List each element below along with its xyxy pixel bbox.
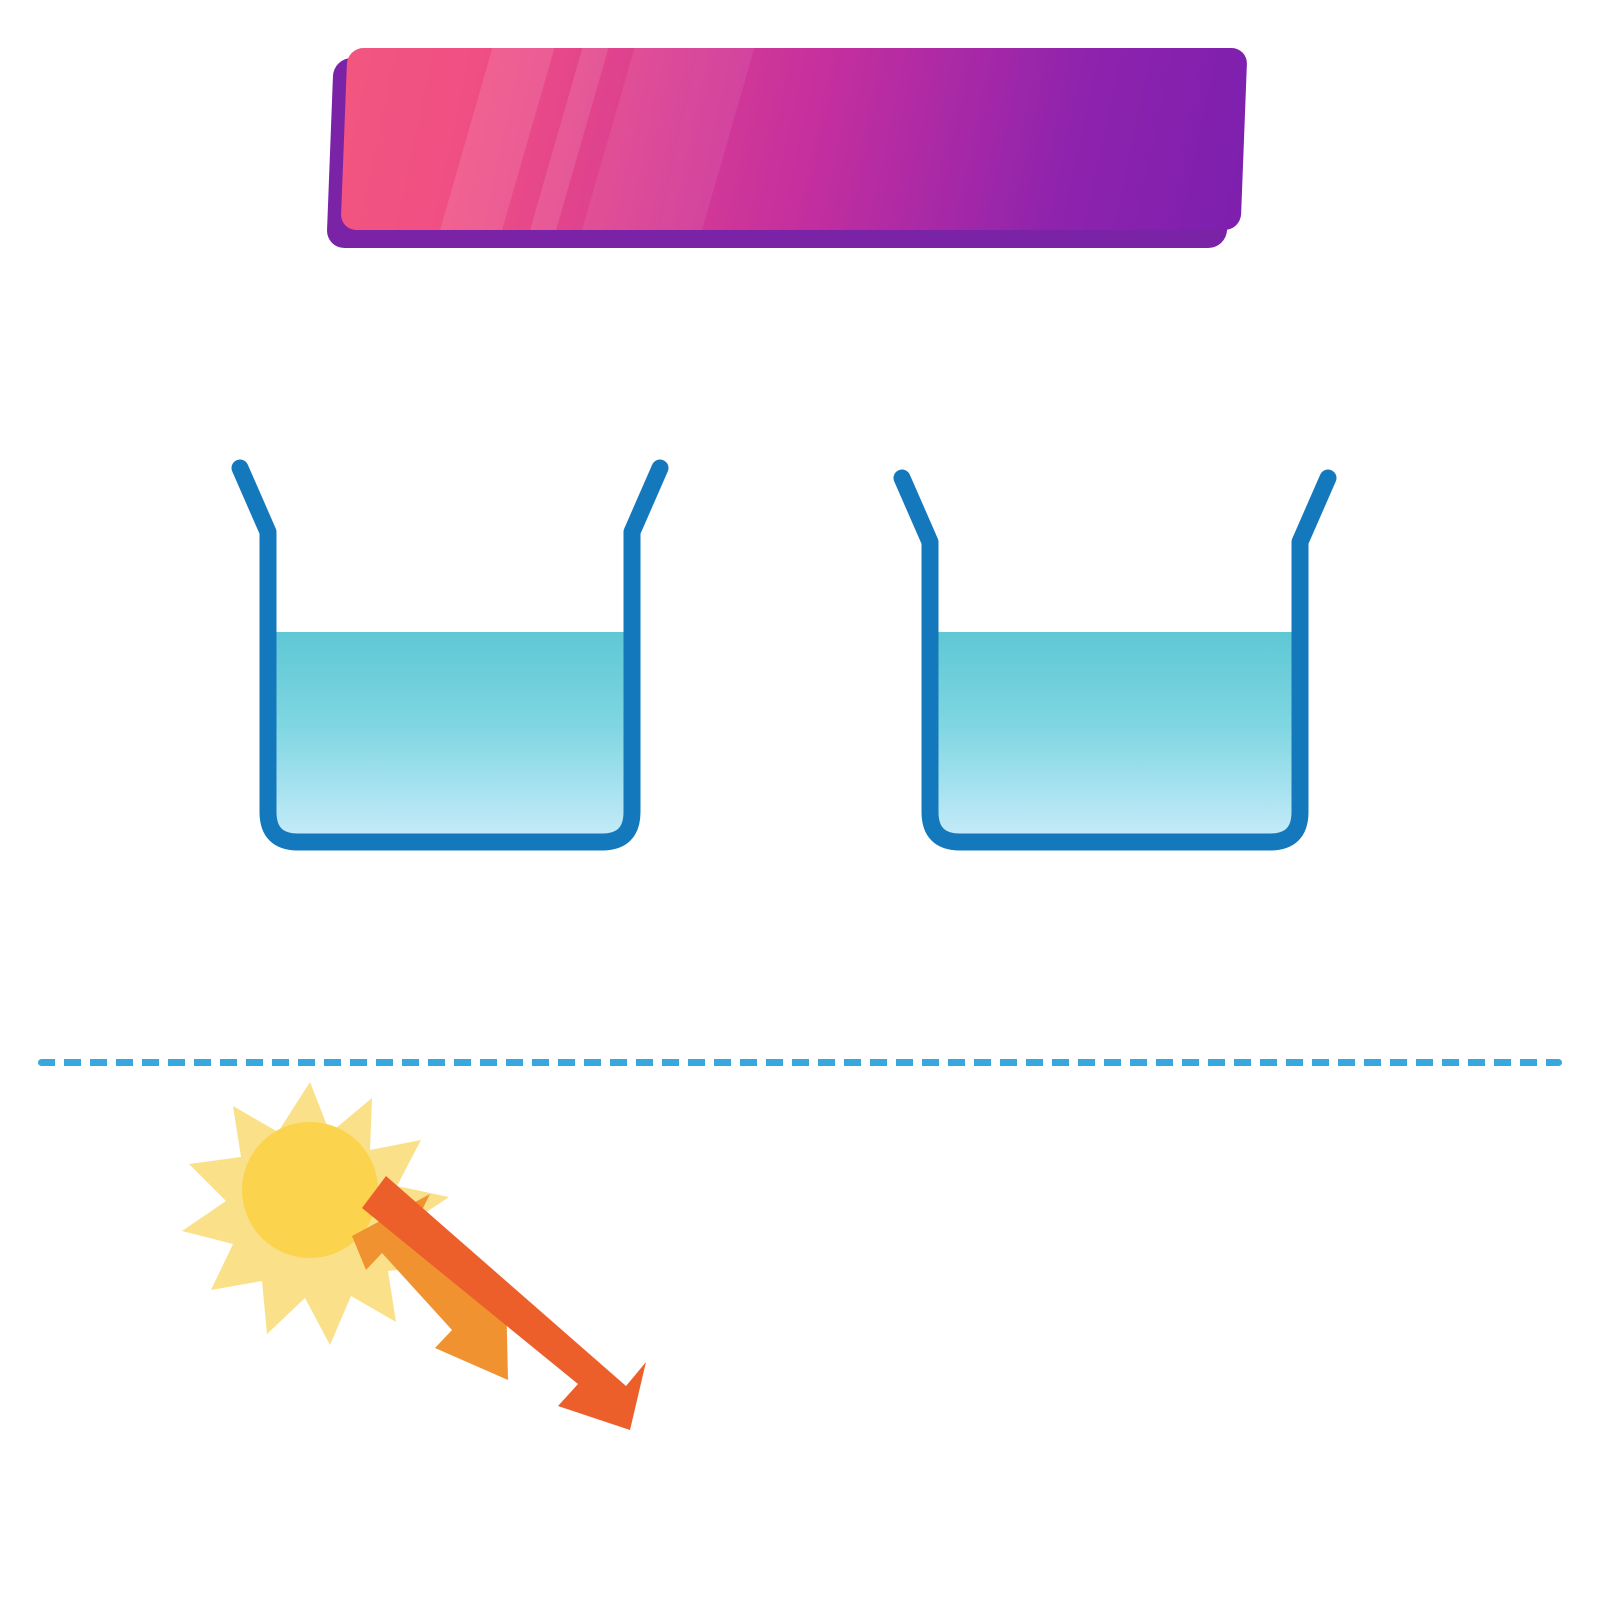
infographic-canvas [0, 0, 1600, 1600]
section-divider [38, 1059, 1562, 1066]
illustration-svg [0, 0, 1600, 1600]
heat-arrows [352, 1176, 646, 1430]
boiling-beaker [902, 478, 1328, 842]
beaker-water-right [934, 632, 1296, 838]
evaporation-beaker [240, 468, 660, 842]
beaker-water-left [272, 632, 628, 838]
heat-arrow-2 [362, 1176, 646, 1430]
